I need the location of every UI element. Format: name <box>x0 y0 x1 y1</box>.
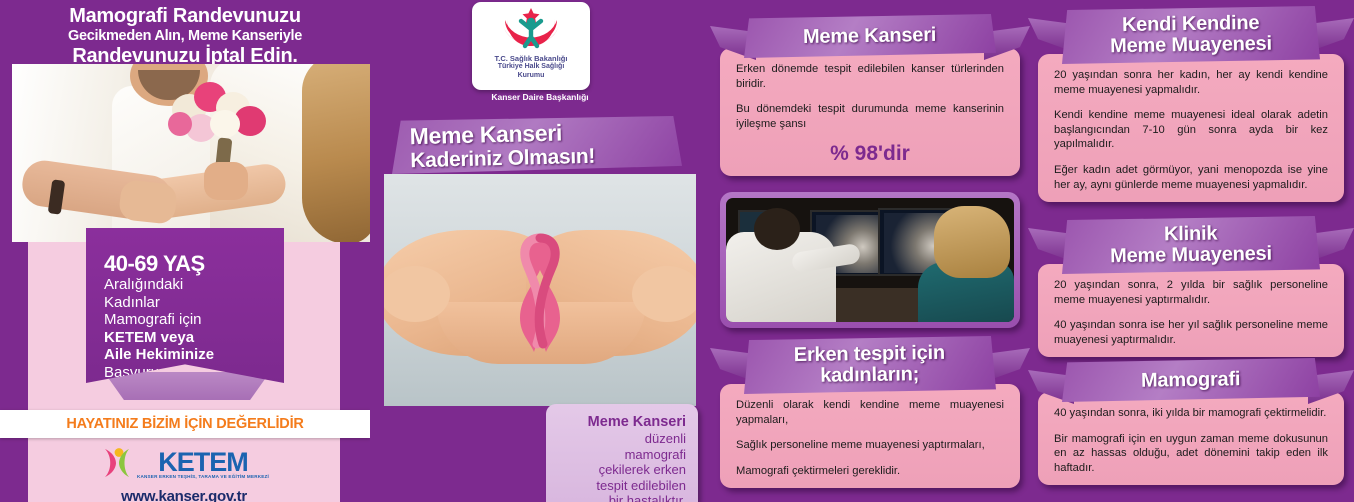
card-paragraph: Eğer kadın adet görmüyor, yani menopozda… <box>1054 163 1328 192</box>
flower-bouquet <box>164 76 284 168</box>
card-paragraph: Erken dönemde tespit edilebilen kanser t… <box>736 62 1004 91</box>
card-title-line-2: Meme Muayenesi <box>1110 244 1272 268</box>
brochure-canvas: Mamografi Randevunuzu Gecikmeden Alın, M… <box>0 0 1354 502</box>
card-paragraph: 40 yaşından sonra, iki yılda bir mamogra… <box>1054 406 1328 421</box>
center-note-line-5: bir hastalıktır. <box>556 493 686 502</box>
card-paragraph: Mamografi çektirmeleri gereklidir. <box>736 464 1004 479</box>
left-thumb-shape <box>380 266 450 322</box>
couple-photo <box>12 64 370 242</box>
right-thumb-shape <box>632 266 702 322</box>
center-note-line-1: düzenli <box>556 431 686 447</box>
survival-rate-highlight: % 98'dir <box>736 142 1004 166</box>
age-range-label: 40-69 YAŞ <box>104 252 284 276</box>
left-purple-margin <box>0 242 28 502</box>
card-title-meme-kanseri: Meme Kanseri <box>803 24 937 47</box>
ministry-line-3: Kurumu <box>472 72 590 81</box>
slogan-text: HAYATINIZ BİZİM İÇİN DEĞERLİDİR <box>0 410 370 438</box>
center-photo-right-edge <box>696 174 710 406</box>
card-body-mamografi: 40 yaşından sonra, iki yılda bir mamogra… <box>1038 392 1344 485</box>
right-section: Meme Kanseri Erken dönemde tespit edileb… <box>710 0 1354 502</box>
center-note-line-4: tespit edilebilen <box>556 478 686 494</box>
card-title-line-2: Meme Muayenesi <box>1110 34 1272 58</box>
right-purple-margin <box>340 242 370 502</box>
card-kendi-kendine: Kendi Kendine Meme Muayenesi 20 yaşından… <box>1038 6 1344 202</box>
card-title-line-2: kadınların; <box>794 364 945 387</box>
center-banner-line-2: Kaderiniz Olmasın! <box>410 145 595 173</box>
card-paragraph: Sağlık personeline meme muayenesi yaptır… <box>736 438 1004 453</box>
ketem-logo: KETEM KANSER ERKEN TEŞHİS, TARAMA VE EĞİ… <box>99 446 269 480</box>
ketem-website-url[interactable]: www.kanser.gov.tr <box>28 488 340 502</box>
ketem-subtitle: KANSER ERKEN TEŞHİS, TARAMA VE EĞİTİM ME… <box>137 474 269 479</box>
ministry-line-1: T.C. Sağlık Bakanlığı <box>472 54 590 63</box>
pink-ribbon-icon <box>490 222 590 367</box>
joined-hands-shape <box>118 179 178 225</box>
center-note-line-2: mamografi <box>556 447 686 463</box>
card-paragraph: 20 yaşından sonra her kadın, her ay kend… <box>1054 68 1328 97</box>
hands-ribbon-photo <box>370 174 710 406</box>
headline-line-1: Mamografi Randevunuzu <box>0 0 370 27</box>
doctor-head-shape <box>754 208 800 250</box>
ketem-logo-block: KETEM KANSER ERKEN TEŞHİS, TARAMA VE EĞİ… <box>28 444 340 502</box>
callout-line-2: Kadınlar <box>104 294 284 312</box>
headline-line-2: Gecikmeden Alın, Meme Kanseriyle <box>0 27 370 45</box>
card-klinik: Klinik Meme Muayenesi 20 yaşından sonra,… <box>1038 216 1344 357</box>
center-note-line-3: çekilerek erken <box>556 462 686 478</box>
callout-line-3: Mamografi için <box>104 311 284 329</box>
center-panel: T.C. Sağlık Bakanlığı Türkiye Halk Sağlı… <box>370 0 710 502</box>
ministry-logo-card: T.C. Sağlık Bakanlığı Türkiye Halk Sağlı… <box>472 2 590 90</box>
card-paragraph: 20 yaşından sonra, 2 yılda bir sağlık pe… <box>1054 278 1328 307</box>
age-callout-box: 40-69 YAŞ Aralığındaki Kadınlar Mamograf… <box>86 228 284 383</box>
left-panel-headline: Mamografi Randevunuzu Gecikmeden Alın, M… <box>0 0 370 66</box>
card-mamografi: Mamografi 40 yaşından sonra, iki yılda b… <box>1038 358 1344 485</box>
center-title-banner: Meme Kanseri Kaderiniz Olmasın! <box>392 116 682 174</box>
card-meme-kanseri: Meme Kanseri Erken dönemde tespit edileb… <box>720 14 1020 176</box>
slogan-strip: HAYATINIZ BİZİM İÇİN DEĞERLİDİR <box>0 410 370 438</box>
card-banner-kendi-kendine: Kendi Kendine Meme Muayenesi <box>1038 6 1344 64</box>
mammogram-consultation-photo <box>720 192 1020 328</box>
ministry-emblem-icon <box>472 2 590 54</box>
callout-line-1: Aralığındaki <box>104 276 284 294</box>
department-label: Kanser Daire Başkanlığı <box>370 92 710 102</box>
callout-ribbon-tail <box>104 372 270 400</box>
card-erken-tespit: Erken tespit için kadınların; Düzenli ol… <box>720 336 1020 488</box>
ketem-figure-icon <box>99 446 133 480</box>
card-paragraph: Bir mamografi için en uygun zaman meme d… <box>1054 432 1328 476</box>
center-photo-left-edge <box>370 174 384 406</box>
callout-line-4: KETEM veya <box>104 329 284 347</box>
card-paragraph: Düzenli olarak kendi kendine meme muayen… <box>736 398 1004 427</box>
card-body-erken-tespit: Düzenli olarak kendi kendine meme muayen… <box>720 384 1020 488</box>
ketem-wordmark: KETEM <box>137 448 269 476</box>
woman-hair-shape <box>302 64 370 242</box>
card-paragraph: Kendi kendine meme muayenesi ideal olara… <box>1054 108 1328 152</box>
card-body-meme-kanseri: Erken dönemde tespit edilebilen kanser t… <box>720 48 1020 176</box>
card-banner-meme-kanseri: Meme Kanseri <box>720 14 1020 58</box>
center-note-title: Meme Kanseri <box>556 414 686 431</box>
left-panel: Mamografi Randevunuzu Gecikmeden Alın, M… <box>0 0 370 502</box>
callout-line-5: Aile Hekiminize <box>104 346 284 364</box>
ministry-line-2: Türkiye Halk Sağlığı <box>472 63 590 72</box>
card-paragraph: Bu dönemdeki tespit durumunda meme kanse… <box>736 102 1004 131</box>
card-paragraph: 40 yaşından sonra ise her yıl sağlık per… <box>1054 318 1328 347</box>
center-note-box: Meme Kanseri düzenli mamografi çekilerek… <box>546 404 698 502</box>
card-title-line-1: Erken tespit için <box>794 343 945 366</box>
card-body-kendi-kendine: 20 yaşından sonra her kadın, her ay kend… <box>1038 54 1344 202</box>
card-banner-erken-tespit: Erken tespit için kadınların; <box>720 336 1020 394</box>
patient-hair-shape <box>934 206 1010 278</box>
card-banner-klinik: Klinik Meme Muayenesi <box>1038 216 1344 274</box>
card-banner-mamografi: Mamografi <box>1038 358 1344 402</box>
card-body-klinik: 20 yaşından sonra, 2 yılda bir sağlık pe… <box>1038 264 1344 357</box>
card-title-mamografi: Mamografi <box>1141 369 1241 392</box>
